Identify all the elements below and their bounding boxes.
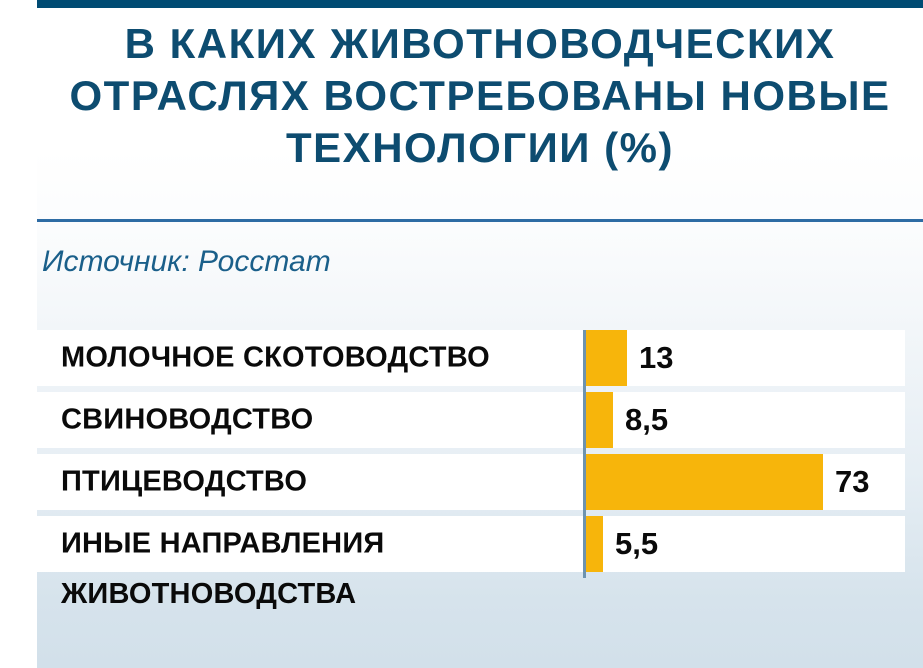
bar-fill — [585, 516, 603, 572]
bar-category-label: ИНЫЕ НАПРАВЛЕНИЯ — [61, 528, 384, 561]
bar-category-label-overflow: ЖИВОТНОВОДСТВА — [61, 578, 356, 611]
bar-fill — [585, 392, 613, 448]
page-title: В КАКИХ ЖИВОТНОВОДЧЕСКИХ ОТРАСЛЯХ ВОСТРЕ… — [37, 18, 923, 174]
bar-value-label: 5,5 — [615, 526, 658, 562]
bar-value-label: 8,5 — [625, 402, 668, 438]
table-row: ПТИЦЕВОДСТВО 73 — [37, 454, 905, 510]
top-accent-bar — [37, 0, 923, 8]
value-axis-line — [583, 330, 586, 578]
title-line-1: В КАКИХ ЖИВОТНОВОДЧЕСКИХ — [37, 18, 923, 70]
bar-fill — [585, 330, 627, 386]
infographic-canvas: В КАКИХ ЖИВОТНОВОДЧЕСКИХ ОТРАСЛЯХ ВОСТРЕ… — [0, 0, 923, 668]
table-row: ИНЫЕ НАПРАВЛЕНИЯ 5,5 — [37, 516, 905, 572]
title-divider — [37, 219, 923, 222]
credit-strip: ИНФОГРАФИКА «ВиЖ» / АЛЕНА УЗБЕКОВА / МАР… — [0, 0, 37, 668]
bar-category-label: МОЛОЧНОЕ СКОТОВОДСТВО — [61, 342, 490, 375]
table-row: СВИНОВОДСТВО 8,5 — [37, 392, 905, 448]
source-label: Источник: Росстат — [42, 245, 331, 279]
bar-value-label: 13 — [639, 340, 673, 376]
title-line-2: ОТРАСЛЯХ ВОСТРЕБОВАНЫ НОВЫЕ — [37, 70, 923, 122]
bar-value-label: 73 — [835, 464, 869, 500]
table-row: МОЛОЧНОЕ СКОТОВОДСТВО 13 — [37, 330, 905, 386]
bar-fill — [585, 454, 823, 510]
title-line-3: ТЕХНОЛОГИИ (%) — [37, 122, 923, 174]
bar-chart: МОЛОЧНОЕ СКОТОВОДСТВО 13 СВИНОВОДСТВО 8,… — [37, 330, 905, 590]
bar-category-label: ПТИЦЕВОДСТВО — [61, 466, 307, 499]
bar-category-label: СВИНОВОДСТВО — [61, 404, 313, 437]
